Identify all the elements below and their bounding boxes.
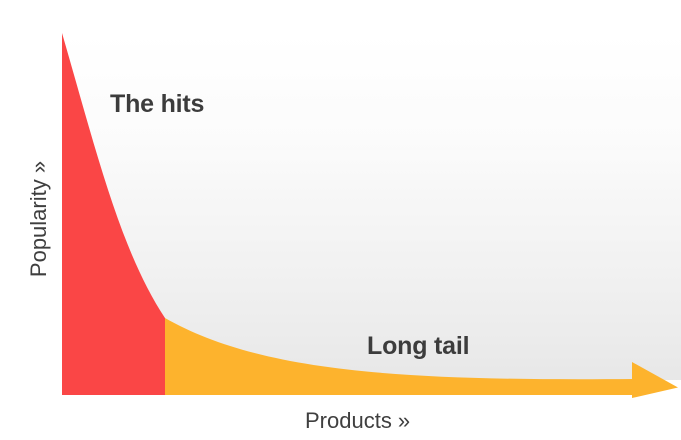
long-tail-curve-graphic	[0, 0, 681, 440]
long-tail-chart: The hits Long tail Popularity » Products…	[0, 0, 681, 440]
x-axis-label: Products »	[305, 410, 410, 432]
annotation-long-tail: Long tail	[367, 334, 469, 359]
annotation-the-hits: The hits	[110, 92, 204, 117]
y-axis-label: Popularity »	[28, 144, 50, 294]
